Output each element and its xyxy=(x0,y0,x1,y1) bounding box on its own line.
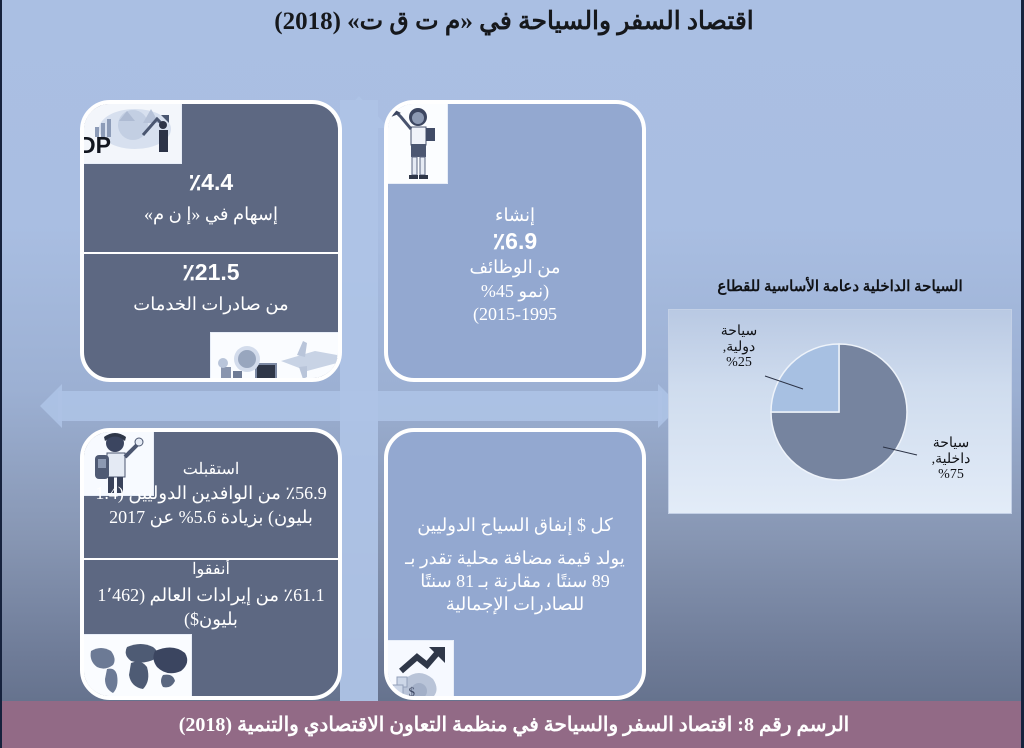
chart-title: السياحة الداخلية دعامة الأساسية للقطاع xyxy=(662,277,1018,296)
vertical-arrow-shaft xyxy=(340,100,378,702)
bl-top-text: ٪56.9 من الوافدين الدوليين (1.4 بليون) ب… xyxy=(92,482,330,528)
tl-top-label: إسهام في «إ ن م» xyxy=(92,203,330,226)
exports-goods-image xyxy=(210,332,342,382)
pie-chart-panel: سياحة دولية, %25 سياحة داخلية, %75 xyxy=(668,309,1012,514)
bl-bottom-label: أنفقوا xyxy=(92,560,330,580)
woman-with-tablet-image xyxy=(384,100,448,184)
page-title: اقتصاد السفر والسياحة في «م ت ق ت» (2018… xyxy=(2,6,1024,36)
tl-bottom-value: ٪21.5 xyxy=(92,258,330,287)
tr-line-1: إنشاء xyxy=(396,204,634,227)
pie-label-international: سياحة دولية, %25 xyxy=(707,324,771,371)
pie-label-domestic: سياحة داخلية, %75 xyxy=(915,436,987,483)
horizontal-arrow-left-head-icon xyxy=(40,384,62,428)
tl-bottom-label: من صادرات الخدمات xyxy=(92,293,330,316)
tr-line-3: من الوظائف xyxy=(396,256,634,279)
tr-line-5: 2015-1995) xyxy=(396,303,634,326)
tr-line-2: ٪6.9 xyxy=(396,227,634,256)
bl-top-label: استقبلت xyxy=(92,460,330,480)
svg-text:GDP: GDP xyxy=(81,132,111,158)
quadrant-card-bottom-right: كل $ إنفاق السياح الدوليين يولد قيمة مضا… xyxy=(384,428,646,700)
br-line-2: يولد قيمة مضافة محلية تقدر بـ xyxy=(396,547,634,570)
tr-line-4: (نمو 45% xyxy=(396,280,634,303)
quadrant-card-bottom-left: استقبلت ٪56.9 من الوافدين الدوليين (1.4 … xyxy=(80,428,342,700)
svg-text:$: $ xyxy=(409,684,416,699)
footer-caption: الرسم رقم 8: اقتصاد السفر والسياحة في من… xyxy=(169,712,860,737)
world-map-image xyxy=(80,634,192,698)
quadrant-card-top-left: GDP ٪4.4 إسهام في «إ ن م» ٪21.5 من صادرا… xyxy=(80,100,342,382)
br-line-1: كل $ إنفاق السياح الدوليين xyxy=(396,514,634,537)
footer-bar: الرسم رقم 8: اقتصاد السفر والسياحة في من… xyxy=(2,701,1024,748)
money-bag-growth-image: $ xyxy=(384,640,454,700)
br-line-3: 89 سنتًا ، مقارنة بـ 81 سنتًا xyxy=(396,570,634,593)
br-line-4: للصادرات الإجمالية xyxy=(396,593,634,616)
pie-slice-international[interactable] xyxy=(771,344,839,412)
slide-canvas: اقتصاد السفر والسياحة في «م ت ق ت» (2018… xyxy=(0,0,1024,748)
bl-bottom-text: ٪61.1 من إيرادات العالم (1٬462 بليون$) xyxy=(92,584,330,630)
gdp-chart-image: GDP xyxy=(80,100,182,164)
tl-top-value: ٪4.4 xyxy=(92,168,330,197)
card-divider xyxy=(84,252,338,254)
quadrant-card-top-right: إنشاء ٪6.9 من الوظائف (نمو 45% 2015-1995… xyxy=(384,100,646,382)
